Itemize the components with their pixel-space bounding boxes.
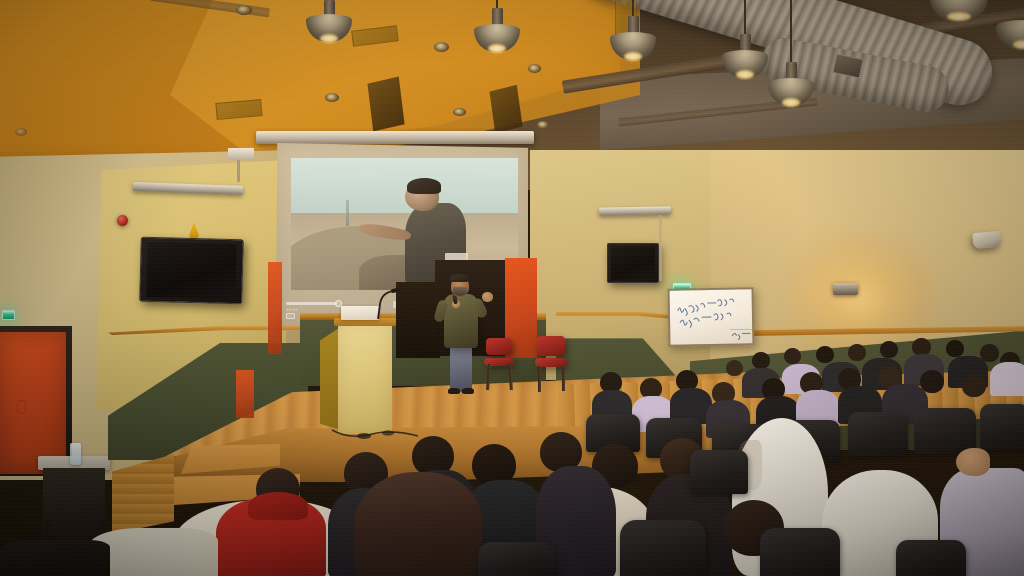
door-left-red[interactable] [0, 332, 66, 474]
recessed-downlight-2 [434, 42, 449, 52]
side-table-body [43, 468, 105, 534]
stage-chair-2-legs [538, 366, 541, 392]
audience-head [848, 344, 866, 361]
audience-head [726, 360, 743, 376]
pendant-lamp-4 [722, 0, 768, 96]
recessed-downlight-6 [537, 121, 549, 129]
video-subject-hair [407, 178, 441, 194]
audience-head [946, 340, 964, 357]
audience-head [962, 374, 986, 397]
audience-long-hair [354, 472, 482, 576]
seat-back [980, 404, 1024, 450]
wall-tv-right [607, 243, 659, 283]
elapsed-time-label: 00:19 [286, 307, 298, 312]
audience-head [816, 346, 834, 363]
wall-conduit-left [237, 160, 240, 182]
audience-torso-bottom-dark [0, 540, 110, 576]
wall-sconce [833, 283, 858, 295]
projection-screen-housing [256, 131, 534, 144]
seat-back [848, 412, 908, 456]
speaker-shoe-left [448, 388, 460, 394]
wall-speaker-box-right [972, 231, 1001, 249]
speaker-beard [453, 287, 467, 296]
stage-chair-2-back [537, 336, 565, 356]
speaker-hair [450, 274, 469, 282]
audience-red-hoodie-hood [248, 492, 308, 520]
exit-sign-left [2, 310, 15, 320]
wall-tv-left [139, 237, 244, 305]
ceiling-air-vent-1 [367, 77, 404, 132]
fire-alarm-bell [117, 215, 128, 226]
ceiling-air-vent-2 [489, 85, 522, 133]
speaker-legs [450, 344, 472, 392]
door-handle-left[interactable] [17, 400, 26, 414]
audience-head [784, 348, 801, 364]
stage-dark-wing-left [396, 282, 440, 358]
recessed-downlight-7 [15, 128, 27, 136]
podium-microphone [374, 286, 400, 320]
video-distant-tower [346, 200, 349, 226]
pendant-lamp-6 [930, 0, 988, 30]
stage-door-red-narrow [268, 262, 282, 354]
auditorium-photo: 00:19 [0, 0, 1024, 576]
seat-back [914, 408, 976, 454]
audience-head [880, 341, 898, 358]
stage-cables [330, 424, 420, 446]
seat-back [478, 542, 556, 576]
whiteboard-writing [670, 289, 755, 347]
rewind-button[interactable] [286, 313, 295, 319]
seat-back [896, 540, 966, 576]
wall-conduit-right [659, 215, 662, 281]
stage-chair-1-back [486, 338, 512, 355]
recessed-downlight-3 [325, 93, 339, 102]
whiteboard[interactable] [668, 287, 755, 346]
seat-back [620, 520, 706, 576]
pendant-lamp-3 [610, 0, 656, 78]
audience-head [752, 352, 770, 369]
pendant-lamp-2 [474, 0, 520, 62]
pendant-lamp-1 [306, 0, 352, 50]
pendant-lamp-7 [996, 18, 1024, 66]
speaker-shoe-right [462, 388, 474, 394]
wall-plate-left [228, 148, 254, 160]
stage-chair-2-legs-right [562, 366, 565, 391]
seat-back [690, 450, 748, 494]
speaker-hand-gesturing [482, 292, 493, 302]
audience-arm-far-right [956, 448, 990, 476]
seat-back [760, 528, 840, 576]
pendant-lamp-5 [768, 0, 814, 120]
seek-bar[interactable] [286, 302, 337, 305]
podium [338, 322, 392, 434]
audience-torso [990, 362, 1024, 396]
recessed-downlight-1 [236, 5, 252, 15]
recessed-downlight-4 [453, 108, 466, 116]
video-sky [291, 158, 518, 213]
water-bottle[interactable] [70, 443, 81, 465]
backstage-door [236, 370, 254, 418]
recessed-downlight-5 [528, 64, 541, 73]
